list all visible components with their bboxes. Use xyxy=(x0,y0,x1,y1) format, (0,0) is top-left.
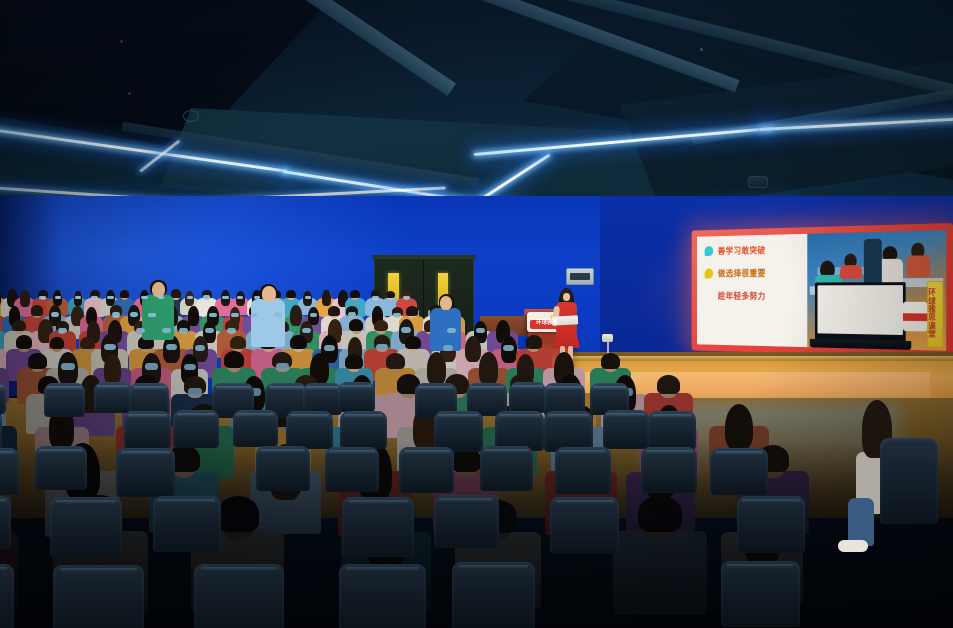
wall-speaker xyxy=(566,268,594,285)
wall-speaker-grill xyxy=(570,273,590,280)
microphone-stand xyxy=(607,340,609,366)
door-handle-left[interactable] xyxy=(416,310,419,326)
presenter-face xyxy=(563,293,570,301)
slide-bullet-1-text: 善学习敢突破 xyxy=(718,243,766,257)
audience-torso xyxy=(191,531,284,613)
door-window-left xyxy=(388,273,399,306)
microphone-head xyxy=(602,334,613,342)
door-right[interactable] xyxy=(424,259,473,357)
beverage-cup xyxy=(903,301,927,331)
ceiling-dot-2 xyxy=(128,92,131,95)
audience-seat xyxy=(339,564,426,628)
door-window-right xyxy=(438,273,449,306)
back-table-left xyxy=(350,330,398,352)
seat-highlight xyxy=(346,567,419,571)
ceiling-dot-3 xyxy=(700,48,703,51)
slide-photo: 环球雅思课堂 xyxy=(807,230,946,351)
audience-seat xyxy=(194,564,284,628)
slide-bullet-1: 善学习敢突破 xyxy=(705,242,807,257)
audience-seat xyxy=(53,565,145,628)
seat-highlight xyxy=(0,567,7,571)
presenter-leg-left xyxy=(560,346,565,370)
audience-seat xyxy=(721,561,800,627)
podium-sign-text: 环球雅思 xyxy=(536,318,558,326)
bullet-icon-cyan xyxy=(705,246,714,256)
laptop-keyboard-base xyxy=(810,339,912,350)
slide-closing-line: 趁年轻多努力 xyxy=(718,289,807,302)
wall-light-sheen xyxy=(0,196,420,396)
laptop-screen xyxy=(818,285,903,335)
audience-torso xyxy=(0,531,18,613)
right-aisle-person-shoe xyxy=(838,540,868,552)
audience-torso xyxy=(455,532,541,608)
audience-torso xyxy=(53,531,148,615)
audience-torso xyxy=(613,531,708,615)
slide-bullet-2: 做选择很重要 xyxy=(705,266,807,280)
floor-blue-reflection xyxy=(640,404,900,494)
ceiling-dot-4 xyxy=(420,190,423,193)
stage-edge-highlight xyxy=(408,356,953,361)
audience-seat xyxy=(0,564,14,628)
presenter-shoe-left xyxy=(559,368,566,373)
seat-highlight xyxy=(60,568,137,572)
vertical-banner: 环球雅思课堂 xyxy=(927,281,943,348)
wall-shadow-left xyxy=(0,196,60,396)
slide-bullet-2-text: 做选择很重要 xyxy=(718,266,766,279)
seat-highlight xyxy=(727,564,793,568)
seat-highlight xyxy=(459,565,529,569)
audience-seat xyxy=(452,562,535,628)
audience-torso xyxy=(721,532,803,604)
bullet-icon-yellow xyxy=(705,268,714,278)
presenter-leg-right xyxy=(568,346,573,370)
door-handle-right[interactable] xyxy=(428,310,431,326)
ceiling-speaker-2 xyxy=(748,176,768,188)
slide-text-column: 善学习敢突破 做选择很重要 趁年轻多努力 xyxy=(697,234,807,347)
presenter-shoe-right xyxy=(567,368,574,373)
seat-highlight xyxy=(201,567,276,571)
audience-torso xyxy=(341,532,431,612)
ceiling-fixture-ring xyxy=(183,110,199,122)
ceiling-dot-1 xyxy=(120,40,123,43)
photo-student-body-4 xyxy=(907,256,930,278)
presentation-screen[interactable]: 善学习敢突破 做选择很重要 趁年轻多努力 xyxy=(692,223,953,358)
slide-content: 善学习敢突破 做选择很重要 趁年轻多努力 xyxy=(697,230,946,351)
photo-student-body-2 xyxy=(840,265,862,279)
auditorium-scene: 善学习敢突破 做选择很重要 趁年轻多努力 xyxy=(0,0,953,628)
laptop-graphic xyxy=(815,282,906,344)
